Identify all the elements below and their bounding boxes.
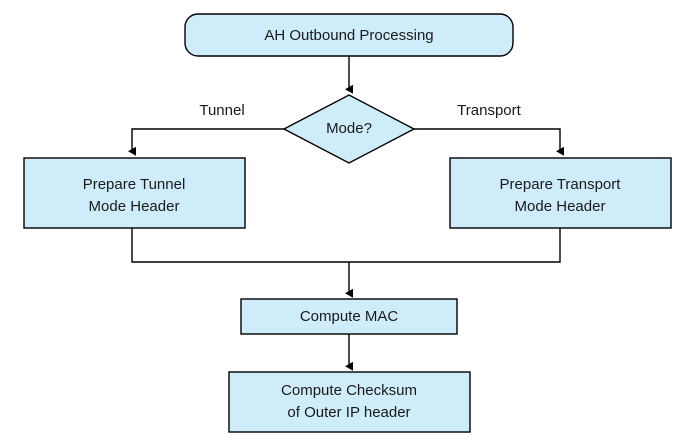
prepare-transport-label-line2: Mode Header <box>515 198 606 215</box>
flowchart-svg: AH Outbound Processing Mode? Tunnel Tran… <box>0 0 695 446</box>
node-prepare-tunnel-mode-header[interactable]: Prepare Tunnel Mode Header <box>24 158 245 228</box>
edge-label-tunnel: Tunnel <box>199 102 244 119</box>
edge-mode-to-transport <box>414 129 560 151</box>
flowchart-canvas: AH Outbound Processing Mode? Tunnel Tran… <box>0 0 695 446</box>
prepare-tunnel-node-shape <box>24 158 245 228</box>
compute-checksum-label-line2: of Outer IP header <box>287 404 410 421</box>
node-prepare-transport-mode-header[interactable]: Prepare Transport Mode Header <box>450 158 671 228</box>
compute-mac-label: Compute MAC <box>300 308 399 325</box>
start-node-label: AH Outbound Processing <box>264 27 433 44</box>
prepare-tunnel-label-line2: Mode Header <box>89 198 180 215</box>
decision-node-label: Mode? <box>326 120 372 137</box>
node-compute-mac[interactable]: Compute MAC <box>241 299 457 334</box>
prepare-transport-node-shape <box>450 158 671 228</box>
edge-label-transport: Transport <box>457 102 521 119</box>
prepare-tunnel-label-line1: Prepare Tunnel <box>83 176 186 193</box>
edge-mode-to-tunnel <box>132 129 284 151</box>
edge-transport-to-merge <box>349 228 560 262</box>
node-ah-outbound-processing[interactable]: AH Outbound Processing <box>185 14 513 56</box>
edge-tunnel-to-merge <box>132 228 349 262</box>
node-compute-checksum[interactable]: Compute Checksum of Outer IP header <box>229 372 470 432</box>
compute-checksum-label-line1: Compute Checksum <box>281 382 417 399</box>
node-mode-decision[interactable]: Mode? <box>284 95 414 163</box>
prepare-transport-label-line1: Prepare Transport <box>500 176 622 193</box>
